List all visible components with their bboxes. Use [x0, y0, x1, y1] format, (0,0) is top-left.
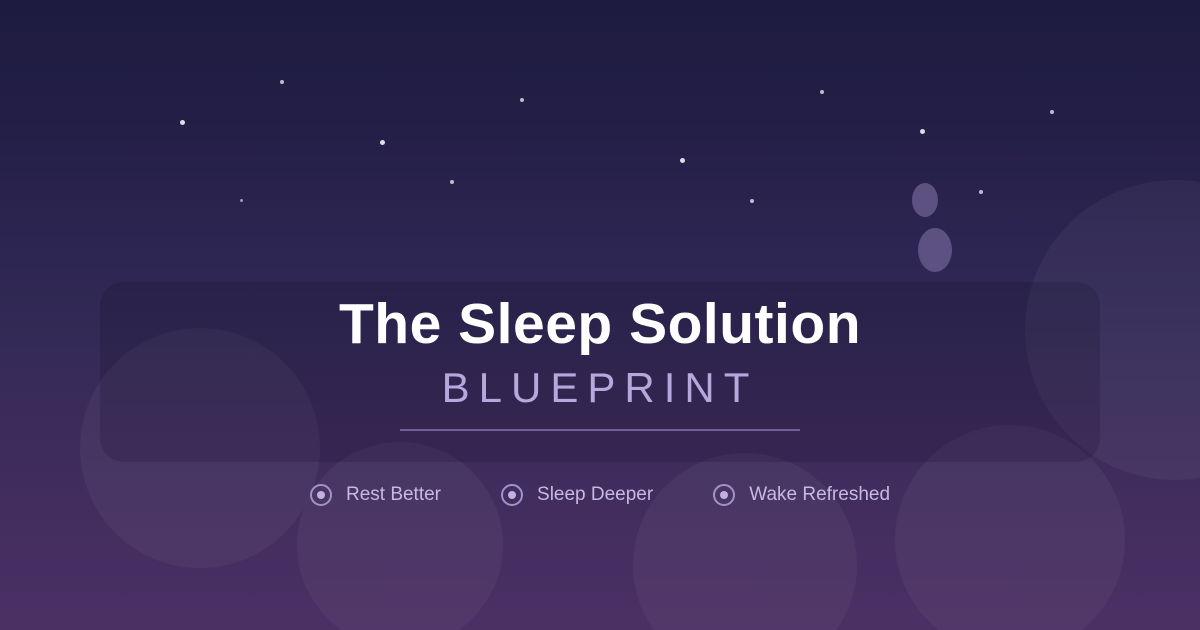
poster-canvas: The Sleep Solution BLUEPRINT Rest Better…	[0, 0, 1200, 630]
feature-label: Wake Refreshed	[749, 484, 890, 506]
feature-item-wake-refreshed[interactable]: Wake Refreshed	[713, 484, 890, 506]
feature-list: Rest BetterSleep DeeperWake Refreshed	[0, 484, 1200, 506]
star-dot-icon	[450, 180, 454, 184]
star-dot-icon	[280, 80, 284, 84]
star-dot-icon	[750, 199, 754, 203]
feature-icon-center-dot	[317, 491, 325, 499]
star-dot-icon	[180, 120, 185, 125]
feature-item-rest-better[interactable]: Rest Better	[310, 484, 441, 506]
feature-icon-center-dot	[508, 491, 516, 499]
moon-ellipse	[912, 183, 938, 217]
star-dot-icon	[979, 190, 983, 194]
feature-item-sleep-deeper[interactable]: Sleep Deeper	[501, 484, 653, 506]
star-dot-icon	[520, 98, 524, 102]
target-dot-icon	[713, 484, 735, 506]
feature-label: Sleep Deeper	[537, 484, 653, 506]
title-divider	[400, 429, 800, 431]
title-block: The Sleep Solution BLUEPRINT	[0, 292, 1200, 431]
star-dot-icon	[1050, 110, 1054, 114]
star-dot-icon	[680, 158, 685, 163]
target-dot-icon	[310, 484, 332, 506]
decorative-circle	[633, 453, 857, 630]
moon-ellipse	[918, 228, 952, 272]
star-dot-icon	[920, 129, 925, 134]
feature-label: Rest Better	[346, 484, 441, 506]
feature-icon-center-dot	[720, 491, 728, 499]
star-dot-icon	[820, 90, 824, 94]
target-dot-icon	[501, 484, 523, 506]
star-dot-icon	[240, 199, 243, 202]
decorative-circle	[297, 442, 503, 630]
page-title: The Sleep Solution	[0, 292, 1200, 358]
page-subtitle: BLUEPRINT	[0, 364, 1200, 412]
star-dot-icon	[380, 140, 385, 145]
